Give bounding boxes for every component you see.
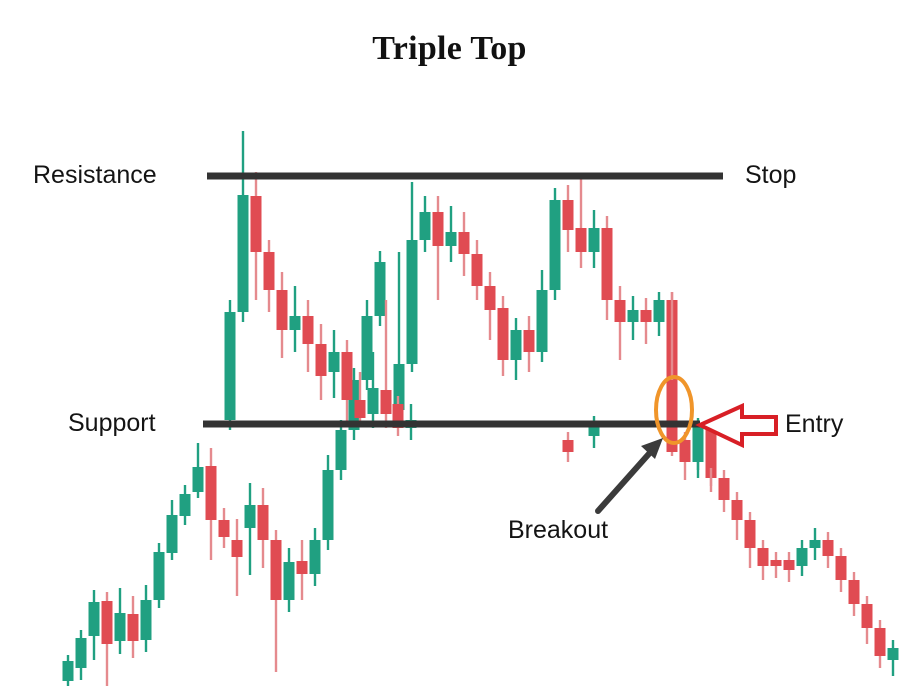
candlestick (128, 596, 139, 658)
candlestick (89, 590, 100, 660)
candlestick (732, 492, 743, 540)
candlestick (407, 182, 418, 372)
candlestick (524, 316, 535, 372)
candlestick (271, 530, 282, 672)
candlestick (316, 324, 327, 400)
candlestick (576, 175, 587, 268)
candlestick (115, 588, 126, 654)
candlestick (485, 272, 496, 340)
candlestick (154, 543, 165, 608)
candlestick (206, 448, 217, 560)
candlestick (537, 270, 548, 362)
candlestick (446, 206, 457, 262)
candlestick (258, 488, 269, 568)
candlestick (290, 286, 301, 352)
candlestick (784, 552, 795, 582)
candlestick (323, 455, 334, 550)
candlestick (167, 500, 178, 560)
candlestick (472, 240, 483, 300)
candlestick (862, 596, 873, 644)
candlestick (550, 188, 561, 300)
candlestick-series (0, 0, 899, 686)
candlestick (420, 196, 431, 252)
candlestick (810, 528, 821, 560)
candlestick (238, 131, 249, 322)
candlestick (219, 508, 230, 548)
candlestick (63, 655, 74, 686)
candlestick (615, 286, 626, 360)
candlestick (245, 483, 256, 575)
candlestick (563, 432, 574, 462)
candlestick (849, 572, 860, 616)
candlestick (758, 540, 769, 580)
candlestick (719, 470, 730, 512)
candlestick (459, 212, 470, 276)
candlestick (589, 416, 600, 448)
candlestick (589, 210, 600, 268)
breakout-label: Breakout (508, 516, 608, 545)
candlestick (284, 548, 295, 612)
candlestick (498, 296, 509, 376)
candlestick (875, 620, 886, 668)
candlestick (823, 532, 834, 568)
entry-label: Entry (785, 410, 843, 439)
support-label: Support (68, 409, 156, 438)
candlestick (680, 432, 691, 480)
candlestick (225, 300, 236, 430)
candlestick (329, 330, 340, 398)
candlestick (102, 592, 113, 686)
candlestick (141, 585, 152, 652)
candlestick (180, 485, 191, 525)
stop-label: Stop (745, 161, 796, 190)
candlestick (375, 251, 386, 326)
candlestick (836, 548, 847, 592)
candlestick (303, 300, 314, 372)
candlestick (264, 240, 275, 312)
candlestick (394, 252, 405, 420)
candlestick (232, 519, 243, 596)
candlestick (628, 296, 639, 340)
candlestick (602, 216, 613, 320)
resistance-label: Resistance (33, 161, 157, 190)
candlestick (433, 196, 444, 300)
candlestick (336, 420, 347, 480)
candlestick (641, 298, 652, 344)
candlestick (251, 172, 262, 300)
candlestick (888, 640, 899, 676)
candlestick (297, 540, 308, 600)
candlestick (745, 512, 756, 568)
candlestick (797, 540, 808, 576)
candlestick (310, 528, 321, 586)
chart-canvas: Triple Top Resistance Stop Support Entry… (0, 0, 899, 686)
candlestick (654, 292, 665, 336)
candlestick (563, 185, 574, 252)
candlestick (406, 404, 417, 440)
candlestick (381, 300, 392, 428)
candlestick (511, 318, 522, 380)
candlestick (693, 418, 704, 470)
candlestick (277, 272, 288, 358)
candlestick (76, 630, 87, 680)
candlestick (193, 443, 204, 498)
candlestick (362, 300, 373, 390)
candlestick (771, 552, 782, 578)
